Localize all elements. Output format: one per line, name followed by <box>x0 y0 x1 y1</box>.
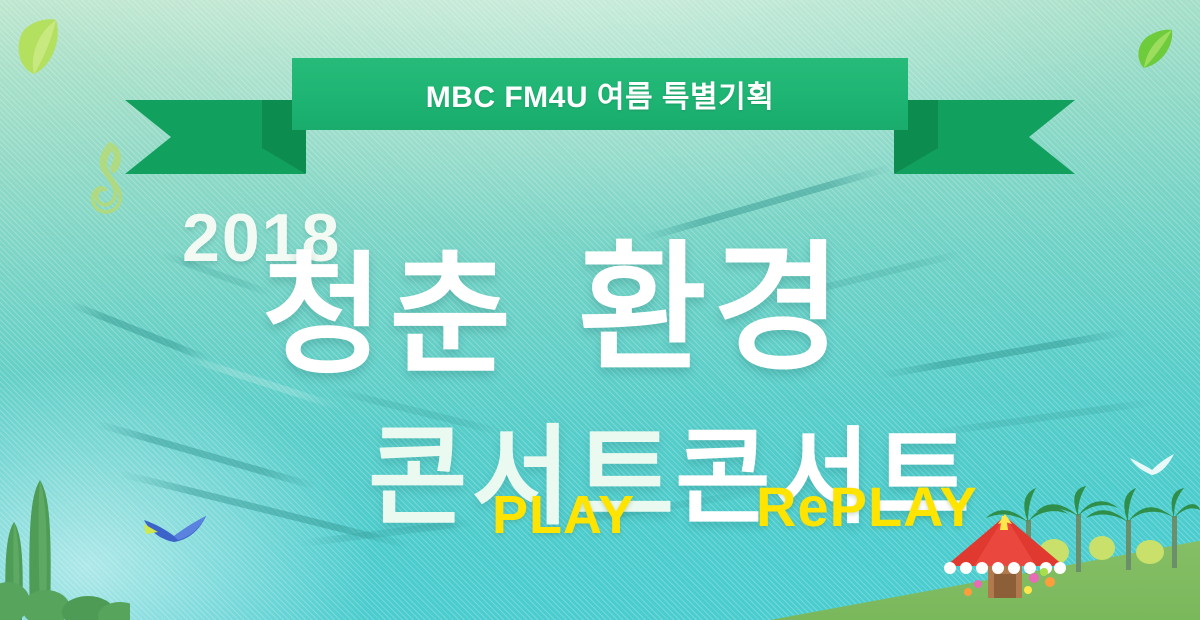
light-streak <box>879 329 1126 379</box>
cypress-trees-group <box>0 470 130 620</box>
ribbon-banner: MBC FM4U 여름 특별기획 <box>0 58 1200 208</box>
tag-play: PLAY <box>492 484 635 546</box>
ribbon-band: MBC FM4U 여름 특별기획 <box>292 58 908 130</box>
title-word-hwangyeong: 환경 <box>578 245 848 374</box>
bird-white-icon <box>1128 452 1176 478</box>
gazebo-icon <box>940 514 1070 602</box>
ribbon-banner-text: MBC FM4U 여름 특별기획 <box>426 72 775 116</box>
poster-canvas: MBC FM4U 여름 특별기획 2018 청춘 환경 콘서트 콘서트 PLAY… <box>0 0 1200 620</box>
title-word-cheongchun: 청춘 <box>262 255 517 376</box>
bird-blue-icon <box>140 510 210 550</box>
